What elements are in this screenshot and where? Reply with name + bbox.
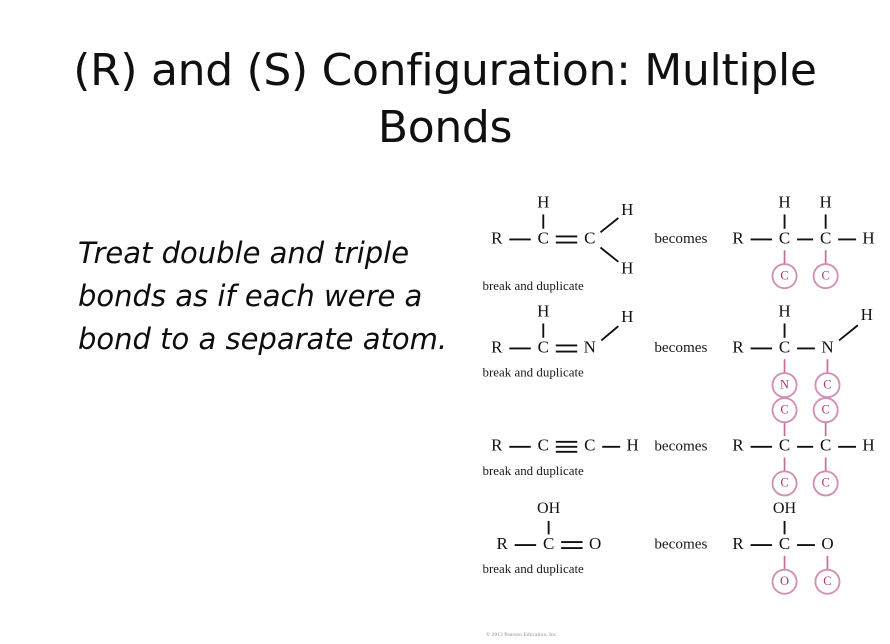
atom-label-r: R: [491, 228, 503, 247]
caption-break-and-duplicate: break and duplicate: [483, 561, 585, 576]
atom-label-r: R: [732, 436, 744, 455]
becomes-label: becomes: [654, 536, 707, 553]
chemistry-figure: RCCHHHbreak and duplicatebecomesRCCHHHCC…: [470, 168, 890, 644]
chemistry-figure-svg: RCCHHHbreak and duplicatebecomesRCCHHHCC…: [470, 168, 890, 638]
atom-label-h: H: [621, 259, 633, 278]
right-structure-imine: RCNHHNC: [732, 302, 872, 398]
caption-break-and-duplicate: break and duplicate: [483, 364, 585, 379]
page-title: (R) and (S) Configuration: Multiple Bond…: [40, 43, 850, 156]
atom-label-r: R: [491, 337, 503, 356]
duplicate-atom-label-c: C: [821, 402, 829, 416]
duplicate-atom-label-c: C: [821, 268, 829, 282]
atom-label-c: C: [538, 228, 549, 247]
atom-label-r: R: [497, 534, 509, 553]
duplicate-atom-label-c: C: [823, 377, 831, 391]
atom-label-c: C: [584, 436, 595, 455]
left-structure-carboxylic-acid: RCOOH: [497, 500, 602, 553]
atom-label-oh: OH: [773, 500, 797, 517]
atom-label-c: C: [779, 228, 790, 247]
caption-break-and-duplicate: break and duplicate: [483, 463, 585, 478]
atom-label-c: C: [538, 337, 549, 356]
becomes-label: becomes: [654, 230, 707, 247]
caption-break-and-duplicate: break and duplicate: [483, 278, 585, 293]
becomes-label: becomes: [654, 437, 707, 454]
atom-label-h: H: [778, 193, 790, 212]
left-structure-alkyne: RCCH: [491, 436, 639, 455]
bond-single: [600, 218, 618, 232]
atom-label-h: H: [778, 302, 790, 321]
becomes-label: becomes: [654, 339, 707, 356]
atom-label-c: C: [584, 228, 595, 247]
duplicate-atom-label-n: N: [780, 377, 789, 391]
duplicate-atom-label-c: C: [780, 476, 788, 490]
copyright-credit: © 2013 Pearson Education, Inc.: [486, 632, 558, 638]
atom-label-h: H: [621, 307, 633, 326]
reaction-row-alkene: RCCHHHbreak and duplicatebecomesRCCHHHCC: [483, 193, 875, 293]
atom-label-h: H: [820, 193, 832, 212]
atom-label-r: R: [732, 228, 744, 247]
atom-label-h: H: [537, 302, 549, 321]
atom-label-c: C: [538, 436, 549, 455]
atom-label-c: C: [779, 337, 790, 356]
reaction-row-imine: RCNHHbreak and duplicatebecomesRCNHHNC: [483, 302, 873, 398]
atom-label-c: C: [779, 534, 790, 553]
atom-label-r: R: [732, 534, 744, 553]
atom-label-c: C: [779, 436, 790, 455]
atom-label-r: R: [491, 436, 503, 455]
atom-label-c: C: [820, 228, 831, 247]
duplicate-atom-label-o: O: [780, 574, 789, 588]
atom-label-h: H: [862, 436, 874, 455]
duplicate-atom-label-c: C: [823, 574, 831, 588]
left-structure-imine: RCNHH: [491, 302, 633, 357]
right-structure-alkene: RCCHHHCC: [732, 193, 874, 289]
atom-label-h: H: [537, 193, 549, 212]
atom-label-oh: OH: [537, 500, 561, 517]
atom-label-h: H: [861, 305, 873, 324]
bond-single: [600, 248, 618, 262]
atom-label-h: H: [862, 228, 874, 247]
right-structure-carboxylic-acid: RCOOHOC: [732, 500, 839, 594]
atom-label-o: O: [589, 534, 601, 553]
slide-body-text: Treat double and triple bonds as if each…: [78, 232, 450, 361]
atom-label-h: H: [627, 436, 639, 455]
atom-label-n: N: [821, 337, 833, 356]
duplicate-atom-label-c: C: [821, 476, 829, 490]
reaction-row-carboxylic-acid: RCOOHbreak and duplicatebecomesRCOOHOC: [483, 500, 840, 594]
reaction-row-alkyne: RCCHbreak and duplicatebecomesRCCHCCCC: [483, 398, 875, 495]
atom-label-o: O: [821, 534, 833, 553]
atom-label-h: H: [621, 200, 633, 219]
atom-label-n: N: [584, 337, 596, 356]
left-structure-alkene: RCCHHH: [491, 193, 633, 278]
duplicate-atom-label-c: C: [780, 402, 788, 416]
atom-label-c: C: [543, 534, 554, 553]
atom-label-c: C: [820, 436, 831, 455]
right-structure-alkyne: RCCHCCCC: [732, 398, 874, 495]
duplicate-atom-label-c: C: [780, 268, 788, 282]
bond-single: [839, 325, 858, 340]
atom-label-r: R: [732, 337, 744, 356]
bond-single: [601, 326, 618, 340]
slide-canvas: (R) and (S) Configuration: Multiple Bond…: [0, 0, 890, 644]
